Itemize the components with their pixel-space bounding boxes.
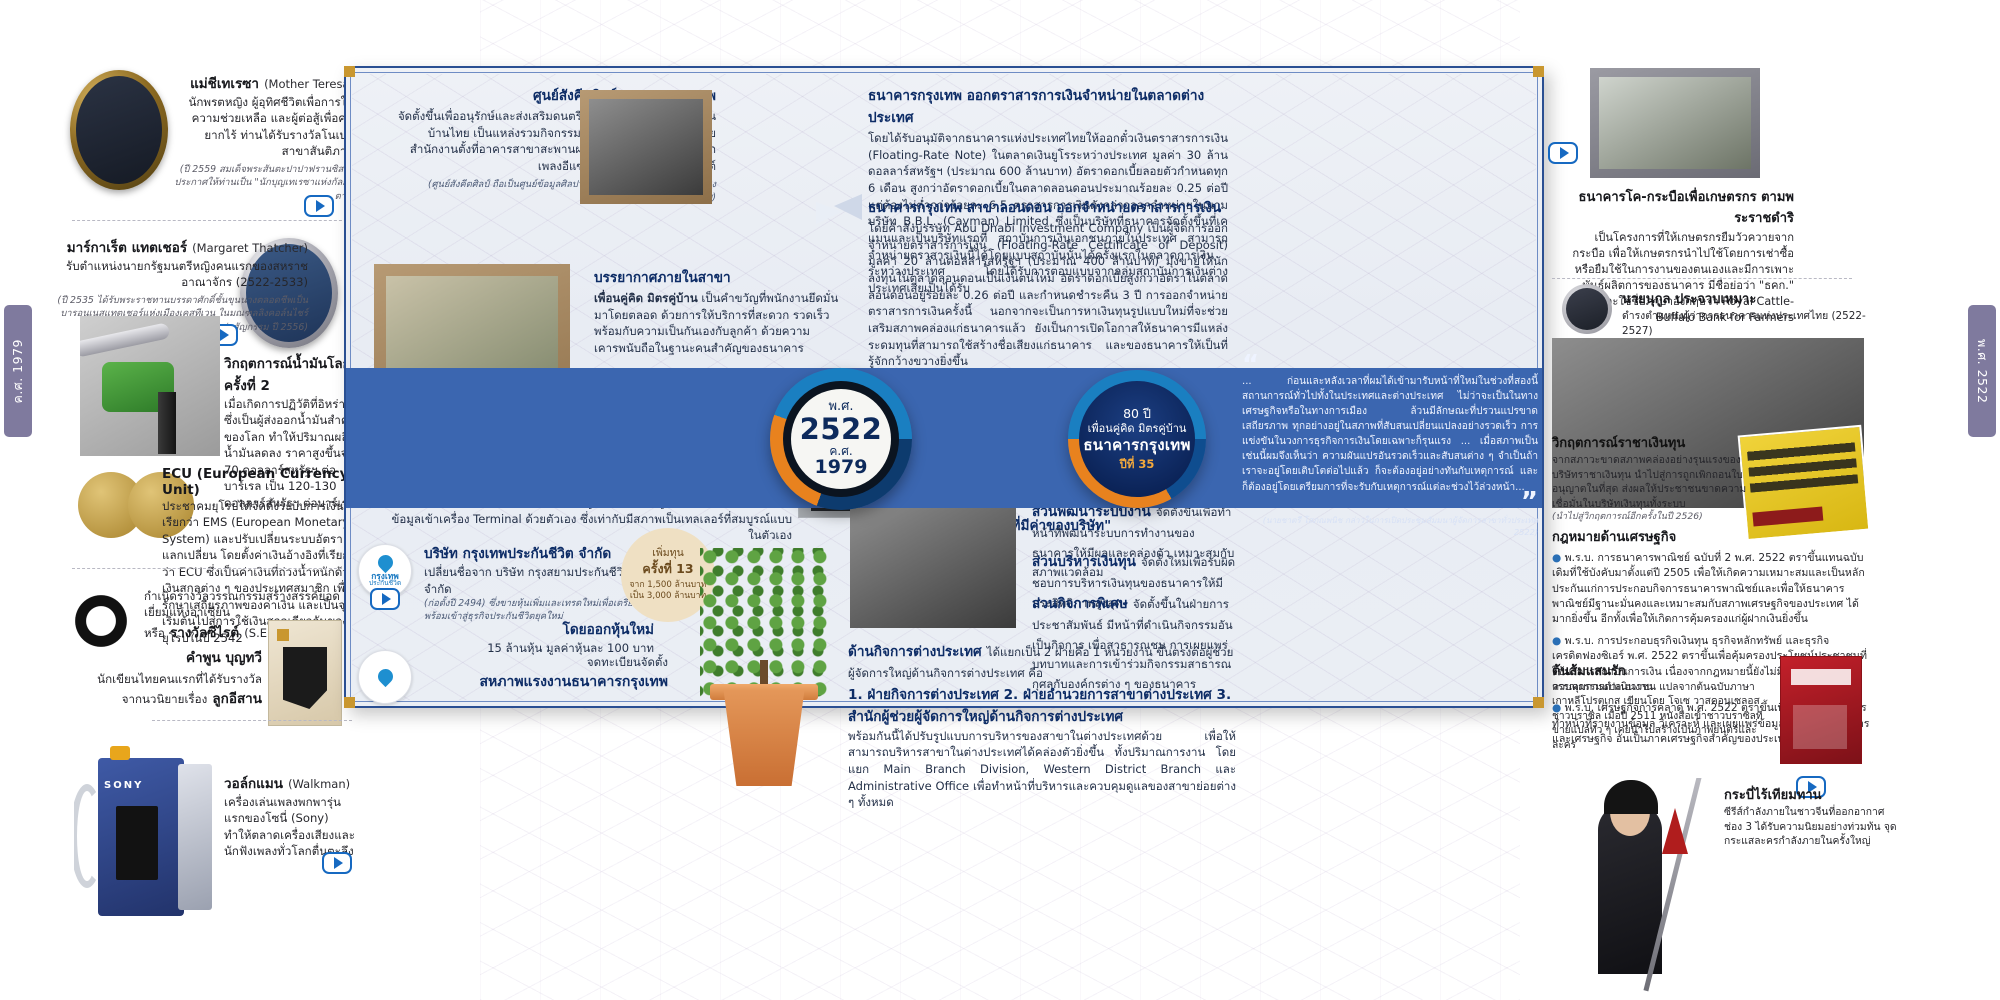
oil-nozzle-photo xyxy=(80,316,220,456)
governor-title: นายนุกูล ประจวบเหมาะ xyxy=(1622,288,1872,309)
sea-write-prefix: หรือ xyxy=(144,626,165,640)
khamphun-body-line: นักเขียนไทยคนแรกที่ได้รับรางวัลจากนวนิยา… xyxy=(90,668,262,709)
bangkok-life-body: เปลี่ยนชื่อจาก บริษัท กรุงสยามประกันชีวิ… xyxy=(424,564,650,597)
overseas-head: ด้านกิจการต่างประเทศ ได้แยกเป็น 2 ฝ่ายคื… xyxy=(848,640,1236,682)
law-bullet-icon: ● xyxy=(1552,635,1561,647)
walkman-title-en: (Walkman) xyxy=(288,777,350,791)
left-column: แม่ชีเทเรซา (Mother Teresa) นักพรตหญิง ผ… xyxy=(64,60,354,960)
walkman-title-th: วอล์กแมน xyxy=(224,776,283,792)
new-shares-title: โดยออกหุ้นใหม่ xyxy=(406,618,654,640)
rajha-crisis-note: (นำไปสู่วิกฤตการณ์อีกครั้งในปี 2526) xyxy=(1552,511,1748,524)
right-column: ธนาคารโค-กระบือเพื่อเกษตรกร ตามพระราชดำร… xyxy=(1552,60,1952,980)
mother-teresa-play-button[interactable] xyxy=(304,195,334,217)
law-bullet-icon: ● xyxy=(1552,552,1561,564)
bank-union-block: จดทะเบียนจัดตั้ง สหภาพแรงงานธนาคารกรุงเท… xyxy=(424,654,668,693)
oil-crisis-title: วิกฤตการณ์น้ำมันโลกครั้งที่ 2 xyxy=(224,352,364,396)
anniversary-bank-name: ธนาคารกรุงเทพ xyxy=(1083,436,1190,455)
corner-marker-br xyxy=(1533,697,1544,708)
red-book-cover xyxy=(1780,656,1862,764)
play-icon xyxy=(382,593,391,605)
year-tab-be: พ.ศ. 2522 xyxy=(1968,305,1996,437)
corner-marker-bl xyxy=(344,697,355,708)
dept-fin-title: ส่วนบริหารเงินทุน xyxy=(1032,554,1136,570)
year-badge: พ.ศ. 2522 ค.ศ. 1979 xyxy=(770,368,912,510)
frn-title: ธนาคารกรุงเทพ ออกตราสารการเงินจำหน่ายในต… xyxy=(868,84,1228,128)
bank-union-lead: จดทะเบียนจัดตั้ง xyxy=(424,654,668,671)
khamphun-novel: ลูกอีสาน xyxy=(212,691,262,707)
dept-special-title: ส่วนกิจการพิเศษ xyxy=(1032,596,1128,612)
year-tab-be-label: พ.ศ. 2522 xyxy=(1972,339,1992,403)
quote-close-mark: ” xyxy=(1242,495,1538,511)
shaolin-character-photo xyxy=(1552,778,1722,998)
quote-open-mark: “ xyxy=(1242,358,1538,374)
law-item: ● พ.ร.บ. การธนาคารพาณิชย์ ฉบับที่ 2 พ.ศ.… xyxy=(1552,551,1870,628)
bangkok-life-play-button[interactable] xyxy=(370,588,400,610)
mother-teresa-photo xyxy=(76,76,162,184)
laws-title: กฎหมายด้านเศรษฐกิจ xyxy=(1552,526,1870,547)
origami-bird-icon xyxy=(816,194,870,238)
divider-1 xyxy=(72,220,352,221)
anniversary-years: 80 ปี xyxy=(1123,406,1151,422)
frcd-body: โดยคำสั่งบรรษัท Abu Dhabi Investment Com… xyxy=(868,220,1228,370)
walkman-title: วอล์กแมน (Walkman) xyxy=(224,772,356,794)
walkman-photo: SONY xyxy=(74,726,224,936)
protest-banner-photo xyxy=(1738,425,1871,541)
overseas-item-2: 2. ฝ่ายอำนวยการสาขาต่างประเทศ xyxy=(1004,687,1212,703)
walkman-play-button[interactable] xyxy=(322,852,352,874)
khamphun-block: คำพูน บุญทวี นักเขียนไทยคนแรกที่ได้รับรา… xyxy=(90,646,262,709)
anniversary-badge-core: 80 ปี เพื่อนคู่คิด มิตรคู่บ้าน ธนาคารกรุ… xyxy=(1079,381,1195,497)
corner-marker-tl xyxy=(344,66,355,77)
water-drop-icon xyxy=(374,552,395,573)
anniversary-slogan: เพื่อนคู่คิด มิตรคู่บ้าน xyxy=(1088,422,1187,436)
branch-atmosphere-title: บรรยากาศภายในสาขา xyxy=(594,266,840,288)
overseas-title: ด้านกิจการต่างประเทศ xyxy=(848,644,982,660)
rajha-crisis-block: วิกฤตการณ์ราชาเงินทุน จากสภาวะขาดสภาพคล่… xyxy=(1552,432,1748,524)
rajha-crisis-title: วิกฤตการณ์ราชาเงินทุน xyxy=(1552,432,1748,453)
cattle-bank-photo-frame xyxy=(1590,68,1760,178)
divider-2 xyxy=(72,568,352,569)
red-book-body: วรรณกรรมแปลเยาวชน แปลจากต้นฉบับภาษาเกาหล… xyxy=(1552,681,1768,753)
mother-teresa-title-en: (Mother Teresa) xyxy=(264,77,354,91)
divider-3 xyxy=(152,720,352,721)
year-tab-ad-label: ค.ศ. 1979 xyxy=(8,339,28,404)
year-tab-ad: ค.ศ. 1979 xyxy=(4,305,32,437)
year-badge-be-year: 2522 xyxy=(800,414,883,444)
corner-marker-tr xyxy=(1533,66,1544,77)
bank-union-logo xyxy=(358,650,412,704)
margaret-thatcher-title: มาร์กาเร็ต แทตเชอร์ (Margaret Thatcher) xyxy=(56,236,308,258)
mother-teresa-title-th: แม่ชีเทเรซา xyxy=(190,76,259,92)
mother-teresa-portrait-frame xyxy=(70,70,168,190)
sea-write-body: กำเนิดรางวัลวรรณกรรมสร้างสรรค์ยอดเยี่ยมแ… xyxy=(144,588,354,621)
governor-body: ดำรงตำแหน่งผู้ว่าการธนาคารแห่งประเทศไทย … xyxy=(1622,309,1872,339)
branch-atmosphere-block: บรรยากาศภายในสาขา เพื่อนคู่คิด มิตรคู่บ้… xyxy=(594,266,840,357)
music-center-photo xyxy=(589,99,703,195)
walkman-body: เครื่องเล่นเพลงพกพารุ่นแรกของโซนี่ (Sony… xyxy=(224,794,356,860)
cattle-bank-title: ธนาคารโค-กระบือเพื่อเกษตรกร ตามพระราชดำร… xyxy=(1568,186,1794,228)
water-drop-icon xyxy=(374,665,395,686)
rajha-crisis-body: จากสภาวะขาดสภาพคล่องอย่างรุนแรงของบริษัท… xyxy=(1552,453,1748,511)
law-item-1-text: พ.ร.บ. การธนาคารพาณิชย์ ฉบับที่ 2 พ.ศ. 2… xyxy=(1552,552,1865,625)
infographic-page: ค.ศ. 1979 พ.ศ. 2522 แม่ชีเทเรซา (Mother … xyxy=(0,0,2000,1000)
play-icon xyxy=(220,329,229,341)
margaret-thatcher-body: รับตำแหน่งนายกรัฐมนตรีหญิงคนแรกของสหราชอ… xyxy=(56,258,308,291)
play-icon xyxy=(1560,147,1569,159)
bangkok-life-logo-line2: ประกันชีวิต xyxy=(369,580,401,587)
governor-block: นายนุกูล ประจวบเหมาะ ดำรงตำแหน่งผู้ว่ากา… xyxy=(1622,288,1872,339)
year-badge-ad-year: 1979 xyxy=(815,458,868,478)
branch-atmosphere-lead: เพื่อนคู่คิด มิตรคู่บ้าน xyxy=(594,291,698,305)
frcd-block: ธนาคารกรุงเทพ สาขาลอนดอน ออกจำหน่ายตราสา… xyxy=(868,196,1228,370)
play-icon xyxy=(334,857,343,869)
overseas-item-1: 1. ฝ่ายกิจการต่างประเทศ xyxy=(848,687,999,703)
ecu-title: ECU (European Currency Unit) xyxy=(162,466,362,498)
chairman-quote: “ ... ก่อนและหลังเวลาที่ผมได้เข้ามารับหน… xyxy=(1242,358,1538,537)
branch-atmosphere-text: เพื่อนคู่คิด มิตรคู่บ้าน เป็นคำขวัญที่พน… xyxy=(594,290,840,357)
cattle-bank-photo xyxy=(1599,77,1751,169)
shaolin-body: ซีรีส์กำลังภายในชาวจีนที่ออกอากาศช่อง 3 … xyxy=(1724,805,1900,849)
year-badge-core: พ.ศ. 2522 ค.ศ. 1979 xyxy=(791,389,891,489)
margaret-thatcher-title-en: (Margaret Thatcher) xyxy=(192,241,308,255)
look-isan-book-cover xyxy=(268,620,342,726)
bangkok-life-title: บริษัท กรุงเทพประกันชีวิต จำกัด xyxy=(424,542,650,564)
bangkok-life-block: บริษัท กรุงเทพประกันชีวิต จำกัด เปลี่ยนช… xyxy=(424,542,650,623)
bank-union-name: สหภาพแรงงานธนาคารกรุงเทพ xyxy=(424,671,668,693)
anniversary-issue: ปีที่ 35 xyxy=(1120,457,1155,471)
khamphun-title: คำพูน บุญทวี xyxy=(90,646,262,668)
mother-teresa-title: แม่ชีเทเรซา (Mother Teresa) xyxy=(174,72,354,94)
frcd-title: ธนาคารกรุงเทพ สาขาลอนดอน ออกจำหน่ายตราสา… xyxy=(868,196,1228,218)
overseas-tail: พร้อมกันนี้ได้ปรับรูปแบบการบริหารของสาขา… xyxy=(848,728,1236,811)
shaolin-block: กระบี่ไร้เทียมทาน ซีรีส์กำลังภายในชาวจีน… xyxy=(1724,784,1900,849)
divider-right-1 xyxy=(1552,278,1852,279)
year-badge-ring: พ.ศ. 2522 ค.ศ. 1979 xyxy=(783,381,899,497)
mother-teresa-body: นักพรตหญิง ผู้อุทิศชีวิตเพื่อการให้ความช… xyxy=(174,94,354,160)
music-center-photo-frame xyxy=(580,90,712,204)
training-classroom-photo xyxy=(850,504,1016,628)
new-shares-block: โดยออกหุ้นใหม่ 15 ล้านหุ้น มูลค่าหุ้นละ … xyxy=(406,618,654,657)
quote-source: (นายชาตรี โสภณพนิช กล่าวในการเปิดประชุมส… xyxy=(1242,514,1538,537)
governor-portrait xyxy=(1562,284,1612,334)
quote-text: ... ก่อนและหลังเวลาที่ผมได้เข้ามารับหน้า… xyxy=(1242,374,1538,495)
overseas-block: ด้านกิจการต่างประเทศ ได้แยกเป็น 2 ฝ่ายคื… xyxy=(848,640,1236,811)
cattle-bank-play-button[interactable] xyxy=(1548,142,1578,164)
anniversary-badge: 80 ปี เพื่อนคู่คิด มิตรคู่บ้าน ธนาคารกรุ… xyxy=(1068,370,1206,508)
flower-pot xyxy=(718,690,810,786)
sea-write-award-th: รางวัลซีไรต์ xyxy=(170,625,239,641)
walkman-block: วอล์กแมน (Walkman) เครื่องเล่นเพลงพกพารุ… xyxy=(224,772,356,860)
capital-increase-count: ครั้งที่ 13 xyxy=(642,561,693,577)
shaolin-title: กระบี่ไร้เทียมทาน xyxy=(1724,784,1900,805)
red-book-block: ต้นส้มแสนรัก วรรณกรรมแปลเยาวชน แปลจากต้น… xyxy=(1552,660,1768,753)
overseas-items: 1. ฝ่ายกิจการต่างประเทศ 2. ฝ่ายอำนวยการส… xyxy=(848,683,1236,727)
mother-teresa-block: แม่ชีเทเรซา (Mother Teresa) นักพรตหญิง ผ… xyxy=(174,72,354,203)
capital-increase-label: เพิ่มทุน xyxy=(652,547,684,561)
play-icon xyxy=(316,200,325,212)
margaret-thatcher-title-th: มาร์กาเร็ต แทตเชอร์ xyxy=(67,240,187,256)
red-book-title: ต้นส้มแสนรัก xyxy=(1552,660,1768,681)
